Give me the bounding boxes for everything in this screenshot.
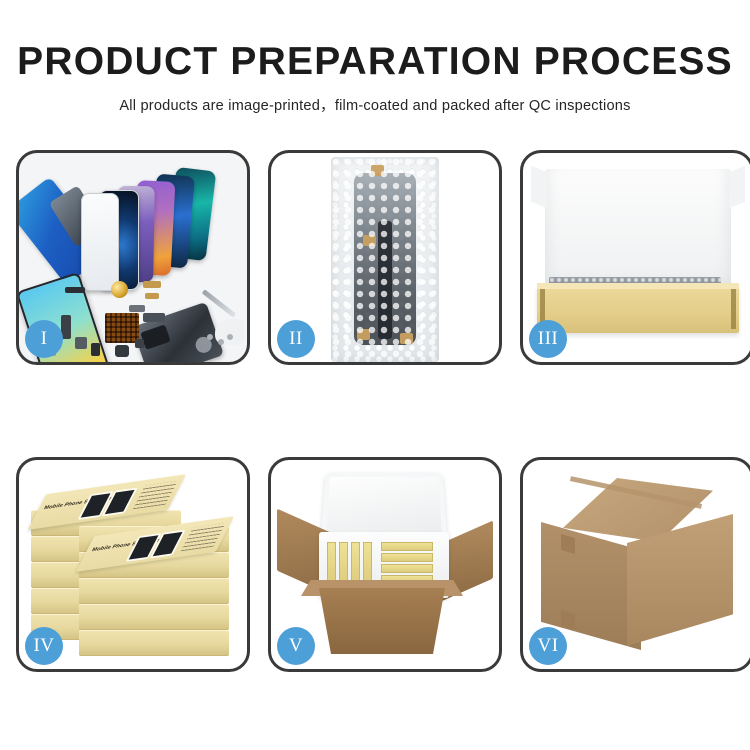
tape-strip-icon [371, 165, 384, 176]
component-part-icon [145, 293, 159, 299]
box-layer [79, 630, 229, 656]
gold-coin-part-icon [111, 281, 128, 298]
process-step-panel-4[interactable]: Mobile Phone Spare Parts Mobile Phone Sp… [16, 457, 250, 672]
phone-screen-white-icon [81, 193, 119, 291]
component-part-icon [65, 287, 85, 293]
process-step-panel-5[interactable]: V [268, 457, 502, 672]
bubble-wrap-bag-icon [331, 157, 439, 362]
carton-icon [541, 478, 733, 656]
component-part-icon [129, 305, 145, 312]
component-part-icon [135, 339, 144, 348]
step-badge-6: VI [529, 627, 567, 665]
step-badge-1: I [25, 320, 63, 358]
yellow-box-icon [351, 542, 360, 584]
yellow-box-icon [363, 542, 372, 584]
page-header: PRODUCT PREPARATION PROCESS All products… [0, 0, 750, 115]
step-badge-5: V [277, 627, 315, 665]
page-subtitle: All products are image-printed，film-coat… [0, 94, 750, 115]
process-step-grid: I II III [16, 150, 750, 672]
process-step-panel-6[interactable]: VI [520, 457, 750, 672]
box-layer [79, 578, 229, 604]
component-part-icon [75, 337, 87, 349]
flex-cable-icon [378, 221, 392, 339]
kraft-box-base-icon [537, 285, 739, 333]
step-badge-3: III [529, 320, 567, 358]
box-edge [731, 289, 736, 329]
step-badge-4: IV [25, 627, 63, 665]
tape-strip-icon [363, 235, 376, 246]
label-spec-lines [133, 481, 178, 509]
process-step-panel-2[interactable]: II [268, 150, 502, 365]
carton-front-face [307, 588, 457, 654]
screws-icon [207, 334, 233, 348]
yellow-box-icon [381, 542, 433, 551]
box-stack: Mobile Phone Spare Parts Mobile Phone Sp… [27, 478, 239, 658]
component-part-icon [115, 345, 129, 357]
yellow-box-icon [381, 553, 433, 562]
component-part-icon [143, 281, 161, 288]
yellow-box-icon [327, 542, 336, 584]
component-part-icon [91, 343, 100, 356]
process-step-panel-1[interactable]: I [16, 150, 250, 365]
step-badge-2: II [277, 320, 315, 358]
tape-strip-icon [357, 329, 370, 340]
box-layer [79, 604, 229, 630]
phone-screen-fan [97, 169, 237, 281]
flex-cable-icon [143, 313, 165, 322]
page-title: PRODUCT PREPARATION PROCESS [0, 42, 750, 81]
yellow-box-icon [381, 564, 433, 573]
chip-board-icon [105, 313, 139, 343]
process-step-panel-3[interactable]: III [520, 150, 750, 365]
yellow-box-icon [339, 542, 348, 584]
tape-strip-icon [400, 333, 413, 344]
